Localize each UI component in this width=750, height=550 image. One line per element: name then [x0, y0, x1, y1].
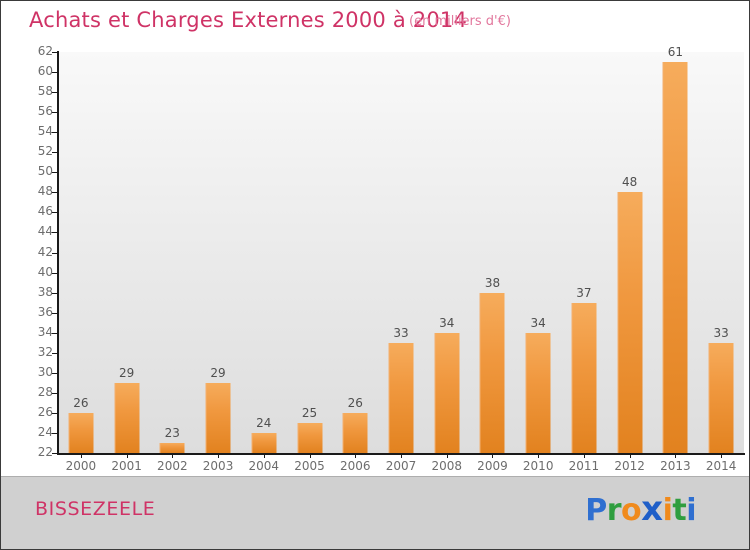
x-axis-tick-label: 2001: [111, 459, 142, 473]
y-axis-tick-label: 34: [38, 325, 53, 339]
y-axis-tick-label: 40: [38, 265, 53, 279]
bar-slot: 25: [287, 52, 333, 453]
bar[interactable]: [160, 443, 185, 453]
x-axis-tick-mark: [81, 453, 82, 458]
x-axis-tick-mark: [675, 453, 676, 458]
y-axis-tick: 46: [1, 212, 65, 213]
logo-letter-t: t: [672, 493, 686, 528]
x-axis-tick-mark: [401, 453, 402, 458]
bar[interactable]: [343, 413, 368, 453]
bar-slot: 26: [332, 52, 378, 453]
x-axis-tick-label: 2010: [523, 459, 554, 473]
x-axis-tick-mark: [447, 453, 448, 458]
y-axis-tick-label: 30: [38, 365, 53, 379]
y-axis-tick-label: 60: [38, 64, 53, 78]
bar-value-label: 34: [531, 316, 546, 330]
y-axis-tick: 56: [1, 112, 65, 113]
bar-value-label: 26: [348, 396, 363, 410]
y-axis-tick: 34: [1, 333, 65, 334]
bar-slot: 29: [104, 52, 150, 453]
x-axis-tick-mark: [538, 453, 539, 458]
y-axis-tick: 40: [1, 273, 65, 274]
y-axis-tick-label: 62: [38, 44, 53, 58]
y-axis-tick: 36: [1, 313, 65, 314]
x-axis-tick-mark: [355, 453, 356, 458]
bar-slot: 34: [424, 52, 470, 453]
y-axis-tick-label: 56: [38, 104, 53, 118]
y-axis-tick-label: 22: [38, 445, 53, 459]
x-axis-tick-label: 2003: [203, 459, 234, 473]
x-axis-tick-mark: [264, 453, 265, 458]
chart-page: Achats et Charges Externes 2000 à 2014 (…: [0, 0, 750, 550]
x-axis-tick-label: 2005: [294, 459, 325, 473]
bar[interactable]: [526, 333, 551, 453]
x-axis-tick-label: 2002: [157, 459, 188, 473]
y-axis-tick-label: 52: [38, 144, 53, 158]
x-axis-tick-mark: [492, 453, 493, 458]
bar[interactable]: [434, 333, 459, 453]
x-axis-tick-mark: [584, 453, 585, 458]
y-axis-tick: 42: [1, 253, 65, 254]
y-axis-tick-label: 44: [38, 224, 53, 238]
y-axis-tick-label: 32: [38, 345, 53, 359]
bar-value-label: 37: [576, 286, 591, 300]
bar-value-label: 33: [393, 326, 408, 340]
bar-slot: 34: [515, 52, 561, 453]
y-axis-tick-label: 24: [38, 425, 53, 439]
bar-slot: 26: [58, 52, 104, 453]
x-axis-tick-mark: [310, 453, 311, 458]
logo-letter-p: P: [585, 493, 607, 528]
x-axis-tick-label: 2007: [386, 459, 417, 473]
y-axis-tick-label: 50: [38, 164, 53, 178]
y-axis-tick: 24: [1, 433, 65, 434]
y-axis-tick: 62: [1, 52, 65, 53]
y-axis-tick: 48: [1, 192, 65, 193]
bar-slot: 23: [149, 52, 195, 453]
y-axis-tick: 54: [1, 132, 65, 133]
city-name-label: BISSEZEELE: [35, 498, 155, 520]
y-axis-tick-mark: [52, 453, 58, 454]
y-axis-tick: 58: [1, 92, 65, 93]
x-axis-tick-label: 2014: [706, 459, 737, 473]
y-axis-tick-label: 48: [38, 184, 53, 198]
y-axis-tick-label: 54: [38, 124, 53, 138]
bar[interactable]: [571, 303, 596, 453]
bar-value-label: 29: [210, 366, 225, 380]
x-axis-tick-mark: [630, 453, 631, 458]
bar-slot: 33: [378, 52, 424, 453]
x-axis-tick-mark: [172, 453, 173, 458]
y-axis-tick: 22: [1, 453, 65, 454]
bar-value-label: 25: [302, 406, 317, 420]
bar-value-label: 26: [73, 396, 88, 410]
bar[interactable]: [68, 413, 93, 453]
logo-letter-i2: i: [686, 493, 696, 528]
bar-value-label: 61: [668, 45, 683, 59]
bar-value-label: 48: [622, 175, 637, 189]
y-axis-tick: 44: [1, 232, 65, 233]
footer-bar: BISSEZEELE Proxiti: [1, 476, 750, 549]
y-axis-tick-label: 36: [38, 305, 53, 319]
y-axis-tick: 38: [1, 293, 65, 294]
y-axis-tick-label: 46: [38, 204, 53, 218]
page-title: Achats et Charges Externes 2000 à 2014: [29, 8, 467, 32]
x-axis-tick-label: 2009: [477, 459, 508, 473]
logo-letter-x: x: [641, 489, 662, 529]
bar-slot: 33: [698, 52, 744, 453]
bar-slot: 24: [241, 52, 287, 453]
x-axis-tick-label: 2008: [431, 459, 462, 473]
bar-value-label: 38: [485, 276, 500, 290]
logo-letter-o: o: [621, 493, 641, 528]
bar-value-label: 24: [256, 416, 271, 430]
bar-slot: 61: [653, 52, 699, 453]
y-axis-tick-label: 38: [38, 285, 53, 299]
chart-subtitle: (en milliers d'€): [409, 14, 511, 29]
bar[interactable]: [206, 383, 231, 453]
y-axis-tick: 30: [1, 373, 65, 374]
bar[interactable]: [709, 343, 734, 453]
bar[interactable]: [114, 383, 139, 453]
y-axis-tick: 60: [1, 72, 65, 73]
bar[interactable]: [663, 62, 688, 453]
y-axis-tick-label: 28: [38, 385, 53, 399]
bar-value-label: 34: [439, 316, 454, 330]
x-axis-tick-label: 2013: [660, 459, 691, 473]
y-axis-tick: 26: [1, 413, 65, 414]
y-axis-tick: 28: [1, 393, 65, 394]
bar[interactable]: [251, 433, 276, 453]
logo-letter-r: r: [607, 493, 621, 528]
bar-slot: 29: [195, 52, 241, 453]
y-axis-tick-label: 26: [38, 405, 53, 419]
x-axis-tick-mark: [218, 453, 219, 458]
x-axis-tick-mark: [721, 453, 722, 458]
y-axis-tick-label: 42: [38, 245, 53, 259]
bar-value-label: 23: [165, 426, 180, 440]
x-axis-tick-label: 2000: [66, 459, 97, 473]
chart-header: Achats et Charges Externes 2000 à 2014 (…: [1, 1, 750, 39]
x-axis-tick-label: 2012: [614, 459, 645, 473]
y-axis-tick: 52: [1, 152, 65, 153]
bar[interactable]: [388, 343, 413, 453]
x-axis-tick-mark: [127, 453, 128, 458]
y-axis-tick-label: 58: [38, 84, 53, 98]
bar-value-label: 33: [713, 326, 728, 340]
y-axis-tick: 32: [1, 353, 65, 354]
bar-slot: 38: [470, 52, 516, 453]
bar[interactable]: [617, 192, 642, 453]
proxiti-logo[interactable]: Proxiti: [585, 489, 696, 529]
logo-letter-i1: i: [663, 493, 673, 528]
bar-slot: 48: [607, 52, 653, 453]
y-axis-tick: 50: [1, 172, 65, 173]
x-axis-tick-label: 2004: [249, 459, 280, 473]
x-axis-tick-label: 2011: [569, 459, 600, 473]
bar[interactable]: [480, 293, 505, 453]
x-axis-tick-label: 2006: [340, 459, 371, 473]
bar-value-label: 29: [119, 366, 134, 380]
bar[interactable]: [297, 423, 322, 453]
bar-slot: 37: [561, 52, 607, 453]
